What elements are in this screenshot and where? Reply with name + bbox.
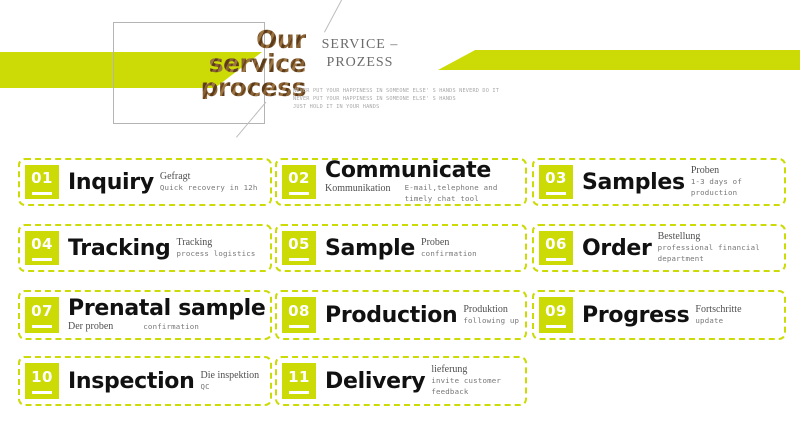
process-step-card-01[interactable]: 01InquiryGefragtQuick recovery in 12h (18, 158, 272, 206)
process-step-card-09[interactable]: 09ProgressFortschritteupdate (532, 290, 786, 340)
step-subtext: Der probenconfirmation (68, 321, 265, 333)
step-title-german: Proben (691, 165, 779, 177)
step-number: 09 (545, 304, 567, 319)
step-title: Tracking (68, 236, 171, 261)
step-body: InspectionDie inspektionQC (59, 363, 265, 399)
tagline-block: NEVER PUT YOUR HAPPINESS IN SOMEONE ELSE… (293, 88, 593, 112)
badge-underline (546, 325, 566, 328)
step-meta: Trackingprocess logistics (177, 237, 256, 260)
process-step-card-04[interactable]: 04TrackingTrackingprocess logistics (18, 224, 272, 272)
tagline-line-2: NEVER PUT YOUR HAPPINESS IN SOMEONE ELSE… (293, 96, 593, 104)
process-step-card-11[interactable]: 11Deliverylieferunginvite customer feedb… (275, 356, 527, 406)
step-title: Prenatal sample (68, 297, 265, 320)
step-title: Inspection (68, 369, 195, 394)
badge-underline (546, 258, 566, 261)
badge-underline (289, 258, 309, 261)
step-number: 11 (288, 370, 310, 385)
step-title-german: Gefragt (160, 171, 258, 183)
step-number-badge: 09 (539, 297, 573, 333)
step-title: Communicate (325, 159, 520, 182)
step-title-german: Produktion (463, 304, 519, 316)
step-body: ProgressFortschritteupdate (573, 297, 779, 333)
process-step-card-05[interactable]: 05SampleProbenconfirmation (275, 224, 527, 272)
tagline-line-3: JUST HOLD IT IN YOUR HANDS (293, 104, 593, 112)
step-meta: Fortschritteupdate (695, 304, 741, 327)
step-body: SampleProbenconfirmation (316, 231, 520, 265)
step-title-german: Fortschritte (695, 304, 741, 316)
step-number: 01 (31, 171, 53, 186)
badge-underline (32, 258, 52, 261)
step-description: following up (463, 316, 519, 327)
step-description: invite customer feedback (431, 376, 520, 397)
step-body: Prenatal sampleDer probenconfirmation (59, 297, 265, 333)
step-title-german: Bestellung (658, 231, 779, 243)
process-step-card-08[interactable]: 08ProductionProduktionfollowing up (275, 290, 527, 340)
step-description: confirmation (143, 322, 199, 333)
step-title-german: Tracking (177, 237, 256, 249)
step-meta: Proben1-3 days of production (691, 165, 779, 198)
step-meta: Die inspektionQC (201, 370, 260, 393)
badge-underline (32, 391, 52, 394)
step-number-badge: 02 (282, 165, 316, 199)
step-title: Order (582, 236, 652, 261)
step-title: Progress (582, 303, 689, 328)
step-meta: Bestellungprofessional financial departm… (658, 231, 779, 264)
process-step-card-07[interactable]: 07Prenatal sampleDer probenconfirmation (18, 290, 272, 340)
step-number: 06 (545, 237, 567, 252)
step-body: TrackingTrackingprocess logistics (59, 231, 265, 265)
badge-underline (32, 325, 52, 328)
step-title: Delivery (325, 369, 425, 394)
step-description: QC (201, 382, 260, 393)
step-title: Production (325, 303, 457, 328)
step-description: professional financial department (658, 243, 779, 264)
step-description: 1-3 days of production (691, 177, 779, 198)
step-title-german: Kommunikation (325, 183, 391, 195)
step-number-badge: 11 (282, 363, 316, 399)
process-step-card-02[interactable]: 02CommunicateKommunikationE-mail,telepho… (275, 158, 527, 206)
step-number-badge: 05 (282, 231, 316, 265)
step-number: 10 (31, 370, 53, 385)
slide-canvas: Our service process SERVICE – PROZESS NE… (0, 0, 800, 433)
step-number-badge: 03 (539, 165, 573, 199)
step-title: Samples (582, 170, 685, 195)
step-meta: Probenconfirmation (421, 237, 477, 260)
step-title-german: Die inspektion (201, 370, 260, 382)
step-description: Quick recovery in 12h (160, 183, 258, 194)
step-number-badge: 07 (25, 297, 59, 333)
step-body: Deliverylieferunginvite customer feedbac… (316, 363, 520, 399)
green-band-right (438, 50, 800, 70)
step-title-german: Proben (421, 237, 477, 249)
step-body: InquiryGefragtQuick recovery in 12h (59, 165, 265, 199)
page-title-line-3: process (196, 76, 306, 100)
step-title: Inquiry (68, 170, 154, 195)
step-meta: GefragtQuick recovery in 12h (160, 171, 258, 194)
step-meta: Produktionfollowing up (463, 304, 519, 327)
badge-underline (289, 192, 309, 195)
step-title-german: Der proben (68, 321, 113, 333)
step-number-badge: 01 (25, 165, 59, 199)
badge-underline (546, 192, 566, 195)
step-body: CommunicateKommunikationE-mail,telephone… (316, 165, 520, 199)
step-number: 05 (288, 237, 310, 252)
process-step-card-10[interactable]: 10InspectionDie inspektionQC (18, 356, 272, 406)
step-number: 04 (31, 237, 53, 252)
step-description: update (695, 316, 741, 327)
service-subtitle: SERVICE – PROZESS (290, 36, 430, 71)
tagline-line-1: NEVER PUT YOUR HAPPINESS IN SOMEONE ELSE… (293, 88, 593, 96)
step-body: OrderBestellungprofessional financial de… (573, 231, 779, 265)
step-description: process logistics (177, 249, 256, 260)
step-number: 02 (288, 171, 310, 186)
step-number: 08 (288, 304, 310, 319)
step-body: ProductionProduktionfollowing up (316, 297, 520, 333)
process-step-card-03[interactable]: 03SamplesProben1-3 days of production (532, 158, 786, 206)
badge-underline (32, 192, 52, 195)
step-description: confirmation (421, 249, 477, 260)
badge-underline (289, 325, 309, 328)
process-step-card-06[interactable]: 06OrderBestellungprofessional financial … (532, 224, 786, 272)
step-number-badge: 04 (25, 231, 59, 265)
step-number-badge: 06 (539, 231, 573, 265)
step-number: 03 (545, 171, 567, 186)
badge-underline (289, 391, 309, 394)
step-body: SamplesProben1-3 days of production (573, 165, 779, 199)
step-meta: lieferunginvite customer feedback (431, 364, 520, 397)
step-number-badge: 08 (282, 297, 316, 333)
step-number: 07 (31, 304, 53, 319)
step-number-badge: 10 (25, 363, 59, 399)
step-title-german: lieferung (431, 364, 520, 376)
step-title: Sample (325, 236, 415, 261)
step-subtext: KommunikationE-mail,telephone and timely… (325, 183, 520, 204)
step-description: E-mail,telephone and timely chat tool (405, 183, 520, 204)
diagonal-line-top (324, 0, 349, 32)
